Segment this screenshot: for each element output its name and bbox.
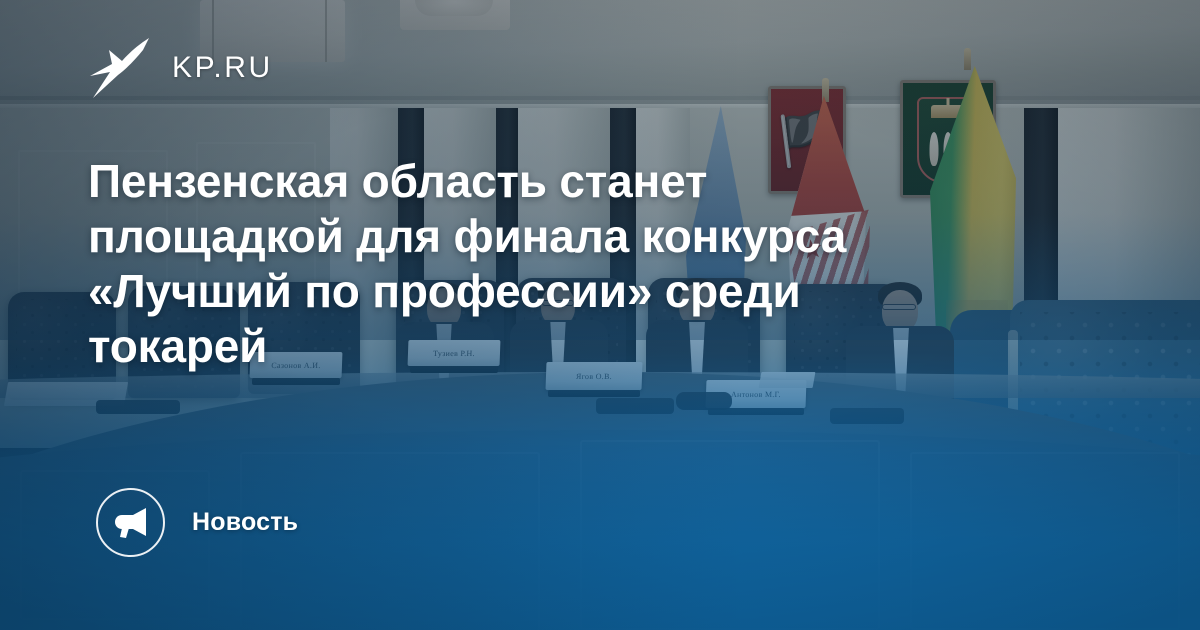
brand-name: KP.RU <box>172 53 273 83</box>
headline-line: Пензенская область станет <box>88 154 1048 209</box>
headline-line: площадкой для финала конкурса <box>88 209 1048 264</box>
badge-label: Новость <box>192 508 298 537</box>
headline-line: «Лучший по профессии» среди <box>88 264 1048 319</box>
brand-lockup[interactable]: KP.RU <box>88 36 273 100</box>
status-badge[interactable]: Новость <box>96 488 298 557</box>
megaphone-icon <box>113 507 149 539</box>
page-title: Пензенская область станет площадкой для … <box>88 154 1048 374</box>
swallow-bird-icon <box>88 36 150 100</box>
share-card: 🏴 ★ <box>0 0 1200 630</box>
card-content: KP.RU Пензенская область станет площадко… <box>0 0 1200 630</box>
headline-line: токарей <box>88 319 1048 374</box>
badge-circle <box>96 488 165 557</box>
